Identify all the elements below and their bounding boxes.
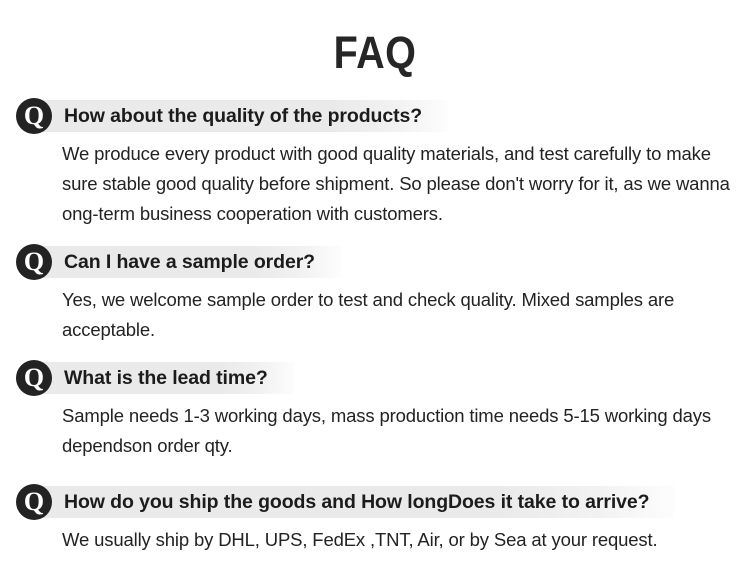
question-badge-icon: Q [16,244,52,280]
faq-item: Q How about the quality of the products?… [0,97,750,229]
faq-question-row[interactable]: Q Can I have a sample order? [0,243,750,281]
faq-answer-text: Sample needs 1-3 working days, mass prod… [0,401,750,461]
question-badge-icon: Q [16,360,52,396]
faq-question-row[interactable]: Q How do you ship the goods and How long… [0,483,750,521]
faq-question-row[interactable]: Q How about the quality of the products? [0,97,750,135]
faq-question-text: How do you ship the goods and How longDo… [64,486,649,518]
faq-item: Q What is the lead time? Sample needs 1-… [0,359,750,461]
faq-question-row[interactable]: Q What is the lead time? [0,359,750,397]
faq-question-text: What is the lead time? [64,362,268,394]
faq-list: Q How about the quality of the products?… [0,97,750,555]
faq-question-text: How about the quality of the products? [64,100,422,132]
faq-item: Q Can I have a sample order? Yes, we wel… [0,243,750,345]
faq-page: FAQ Q How about the quality of the produ… [0,0,750,584]
faq-answer-text: Yes, we welcome sample order to test and… [0,285,750,345]
faq-question-text: Can I have a sample order? [64,246,315,278]
faq-answer-text: We usually ship by DHL, UPS, FedEx ,TNT,… [0,525,750,555]
faq-answer-text: We produce every product with good quali… [0,139,750,229]
question-badge-icon: Q [16,484,52,520]
faq-item: Q How do you ship the goods and How long… [0,483,750,555]
faq-question-band: How do you ship the goods and How longDo… [34,486,675,518]
faq-question-band: What is the lead time? [34,362,294,394]
faq-question-band: How about the quality of the products? [34,100,448,132]
page-title: FAQ [45,0,705,75]
question-badge-icon: Q [16,98,52,134]
faq-question-band: Can I have a sample order? [34,246,341,278]
